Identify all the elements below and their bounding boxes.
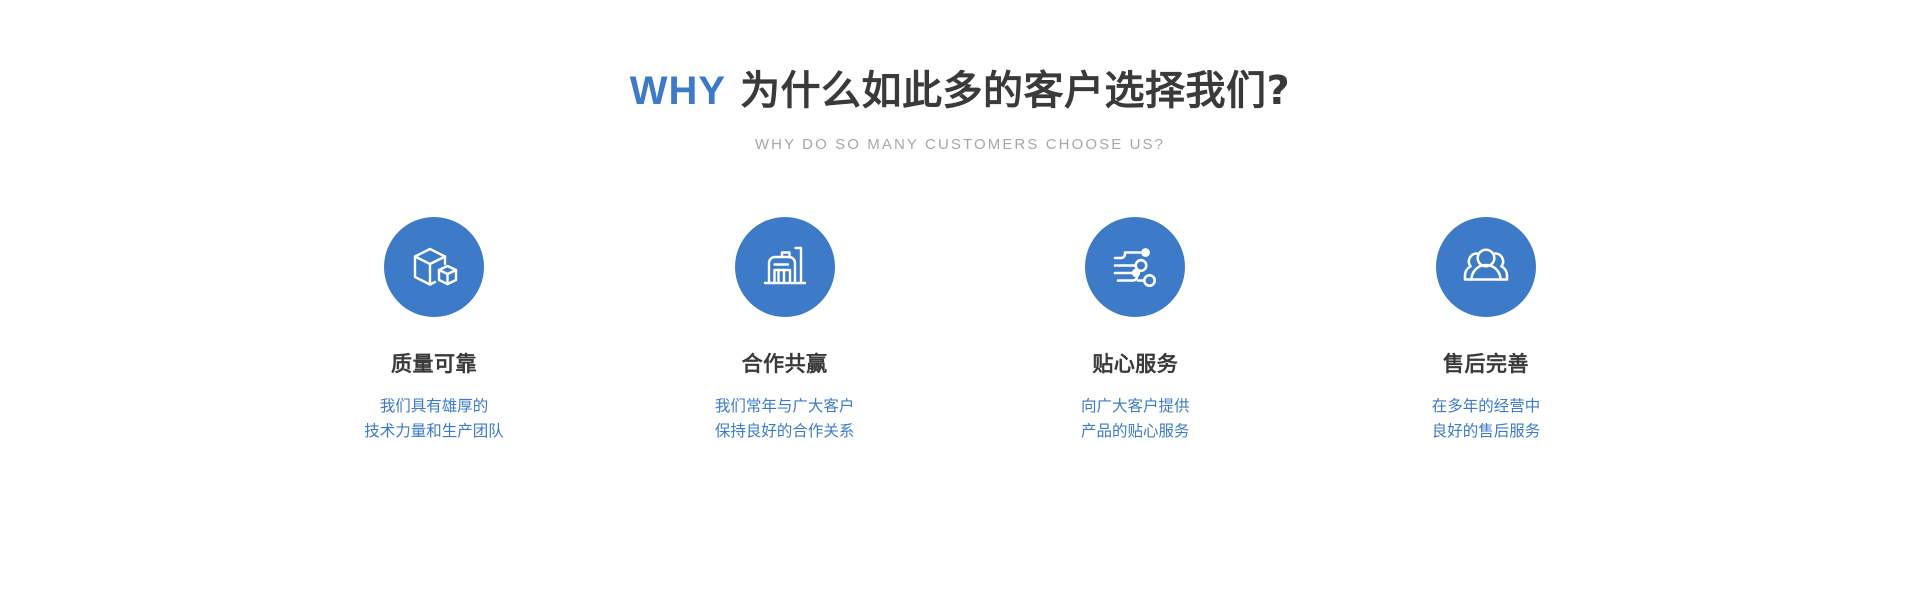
page-subtitle: WHY DO SO MANY CUSTOMERS CHOOSE US? [0, 136, 1920, 153]
feature-description-line: 在多年的经营中 [1432, 394, 1541, 419]
feature-card-list: 质量可靠 我们具有雄厚的 技术力量和生产团队 合作共赢 [300, 217, 1620, 444]
feature-description: 向广大客户提供 产品的贴心服务 [1081, 394, 1190, 444]
heading-block: WHY为什么如此多的客户选择我们? WHY DO SO MANY CUSTOME… [0, 68, 1920, 153]
feature-description-line: 我们常年与广大客户 [715, 394, 855, 419]
feature-title: 质量可靠 [391, 352, 477, 377]
feature-description-line: 技术力量和生产团队 [364, 419, 504, 444]
feature-description-line: 我们具有雄厚的 [364, 394, 504, 419]
feature-description-line: 产品的贴心服务 [1081, 419, 1190, 444]
circuit-network-icon [1085, 217, 1185, 317]
why-choose-us-section: WHY为什么如此多的客户选择我们? WHY DO SO MANY CUSTOME… [0, 0, 1920, 615]
title-prefix-why: WHY [630, 69, 726, 113]
feature-description: 我们常年与广大客户 保持良好的合作关系 [715, 394, 855, 444]
feature-description-line: 向广大客户提供 [1081, 394, 1190, 419]
feature-description-line: 保持良好的合作关系 [715, 419, 855, 444]
feature-description: 我们具有雄厚的 技术力量和生产团队 [364, 394, 504, 444]
feature-card[interactable]: 贴心服务 向广大客户提供 产品的贴心服务 [1001, 217, 1269, 444]
title-text-zh: 为什么如此多的客户选择我们? [740, 68, 1290, 114]
feature-title: 售后完善 [1443, 352, 1529, 377]
feature-card[interactable]: 质量可靠 我们具有雄厚的 技术力量和生产团队 [300, 217, 568, 444]
package-box-icon [384, 217, 484, 317]
feature-description: 在多年的经营中 良好的售后服务 [1432, 394, 1541, 444]
page-title: WHY为什么如此多的客户选择我们? [0, 68, 1920, 114]
feature-description-line: 良好的售后服务 [1432, 419, 1541, 444]
feature-title: 贴心服务 [1092, 352, 1178, 377]
feature-title: 合作共赢 [742, 352, 828, 377]
feature-card[interactable]: 合作共赢 我们常年与广大客户 保持良好的合作关系 [651, 217, 919, 444]
feature-card[interactable]: 售后完善 在多年的经营中 良好的售后服务 [1352, 217, 1620, 444]
factory-icon [735, 217, 835, 317]
users-group-icon [1436, 217, 1536, 317]
